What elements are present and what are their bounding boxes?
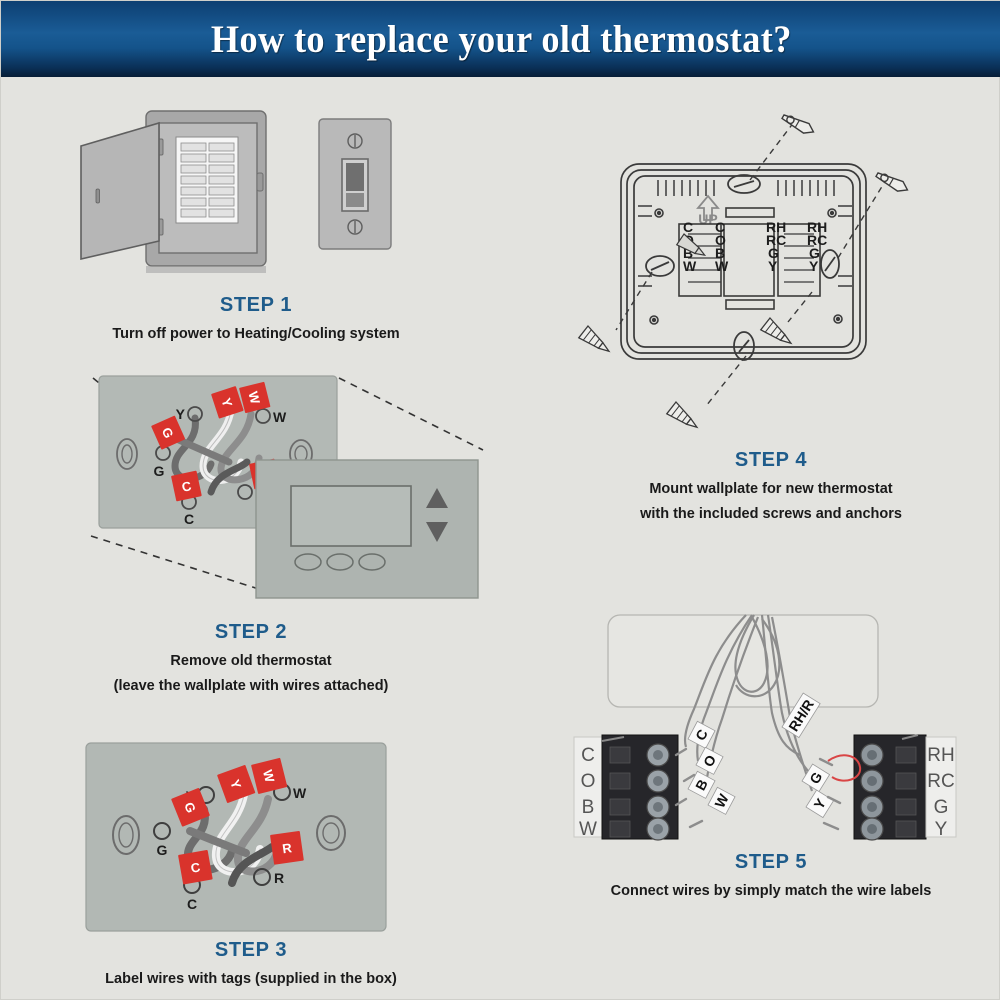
step-5-caption: STEP 5 Connect wires by simply match the…: [556, 851, 986, 902]
block-label-o: O: [581, 771, 596, 792]
right-terminal-block: RH RC G Y: [854, 735, 956, 840]
thermostat-display: [291, 486, 411, 546]
breaker-panel-icon: [81, 111, 266, 273]
step-5-label: STEP 5: [556, 851, 986, 874]
step-2-caption: STEP 2 Remove old thermostat (leave the …: [36, 621, 466, 698]
step-3-label: STEP 3: [31, 939, 471, 962]
wire-label: W: [708, 787, 735, 814]
step-2-label: STEP 2: [36, 621, 466, 644]
step-4-line-1: Mount wallplate for new thermostat: [556, 478, 986, 500]
anchor-icon: [875, 169, 910, 196]
wire-label: O: [696, 747, 723, 774]
step-4-line-2: with the included screws and anchors: [556, 503, 986, 525]
terminal-label-y: Y: [768, 258, 778, 274]
page-title: How to replace your old thermostat?: [211, 17, 792, 62]
terminal-label-r: R: [274, 870, 284, 886]
step-4-label: STEP 4: [556, 449, 986, 472]
left-terminal-block: C O B W: [574, 735, 678, 840]
block-label-rh: RH: [927, 745, 954, 766]
infographic-page: How to replace your old thermostat?: [0, 0, 1000, 1000]
terminal-label-g: G: [157, 842, 168, 858]
step-3-line-1: Label wires with tags (supplied in the b…: [31, 968, 471, 990]
terminal-label-y: Y: [176, 406, 186, 422]
step-5-line-1: Connect wires by simply match the wire l…: [556, 880, 986, 902]
light-switch-icon: [319, 119, 391, 249]
terminal-label-g: G: [154, 463, 165, 479]
block-label-b: B: [582, 797, 595, 818]
block-label-c: C: [581, 745, 595, 766]
step-1-label: STEP 1: [41, 294, 471, 317]
step-4-caption: STEP 4 Mount wallplate for new thermosta…: [556, 449, 986, 526]
step-1-line-1: Turn off power to Heating/Cooling system: [41, 323, 471, 345]
screw-icon: [579, 326, 613, 358]
block-label-y: Y: [935, 819, 948, 840]
header-banner: How to replace your old thermostat?: [1, 1, 1000, 77]
step-5-illustration: C O B W: [566, 609, 976, 849]
terminal-label-c: C: [184, 511, 194, 527]
block-label-w: W: [579, 819, 597, 840]
terminal-label-w: W: [273, 409, 287, 425]
screw-icon: [667, 402, 701, 434]
step-2-line-2: (leave the wallplate with wires attached…: [36, 675, 466, 697]
wire-tag: C: [178, 850, 213, 885]
step-4-illustration: UP C O B W C O B W: [566, 106, 976, 426]
step-2-line-1: Remove old thermostat: [36, 650, 466, 672]
wire-label: C: [688, 721, 715, 748]
terminal-label-w: W: [683, 258, 697, 274]
wire-tag: R: [270, 831, 304, 865]
block-label-g: G: [934, 797, 949, 818]
terminal-label-w: W: [293, 785, 307, 801]
wire-tag: C: [171, 471, 202, 502]
old-thermostat: [256, 460, 478, 598]
step-3-caption: STEP 3 Label wires with tags (supplied i…: [31, 939, 471, 990]
left-terminal-block: C O B W C O B W: [679, 219, 729, 296]
wire-label: Y: [806, 790, 834, 818]
step-1-illustration: [71, 101, 441, 291]
screw-icon: [761, 318, 795, 350]
step-2-illustration: Y W G C R Y W: [71, 366, 491, 601]
right-terminal-block: RH RC G Y RH RC G Y: [766, 219, 827, 296]
step-3-illustration: Y W G C R Y G W: [86, 743, 386, 931]
terminal-label-c: C: [187, 896, 197, 912]
terminal-label-w-2: W: [715, 258, 729, 274]
step-1-caption: STEP 1 Turn off power to Heating/Cooling…: [41, 294, 471, 345]
block-label-rc: RC: [927, 771, 954, 792]
terminal-label-y-2: Y: [809, 258, 819, 274]
